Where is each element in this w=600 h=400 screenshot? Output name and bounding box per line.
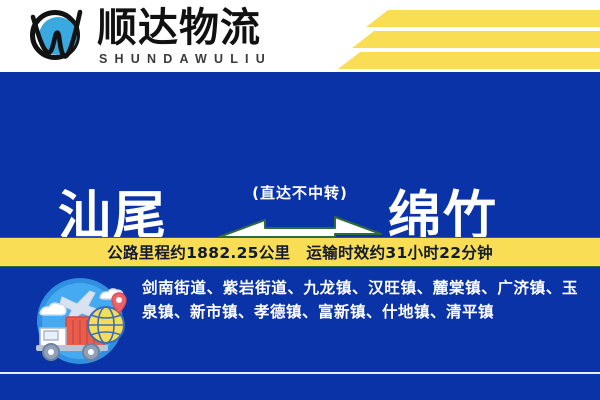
logistics-truck-plane-globe-icon (22, 273, 138, 369)
info-bar: 公路里程约1882.25公里 运输时效约31小时22分钟 (0, 237, 600, 267)
brand-name-en: SHUNDAWULIU (99, 51, 272, 67)
route-section: 汕尾 (直达不中转) 【往返运输】 绵竹 (0, 72, 600, 237)
header-bar: 顺达物流 SHUNDAWULIU (0, 0, 600, 72)
logo-w-stroke-icon (28, 8, 86, 66)
brand-text: 顺达物流 SHUNDAWULIU (97, 7, 272, 67)
brand-logo: 顺达物流 SHUNDAWULIU (26, 6, 272, 68)
footer-bar (0, 374, 600, 400)
service-areas-list: 剑南街道、紫岩街道、九龙镇、汉旺镇、麓棠镇、广济镇、玉泉镇、新市镇、孝德镇、富新… (142, 276, 578, 324)
distance-label: 公路里程约1882.25公里 (107, 241, 290, 263)
shunda-circle-w-logo-icon (26, 6, 88, 68)
brand-name-cn: 顺达物流 (97, 7, 272, 49)
duration-label: 运输时效约31小时22分钟 (306, 241, 493, 263)
service-areas-section: 剑南街道、紫岩街道、九龙镇、汉旺镇、麓棠镇、广济镇、玉泉镇、新市镇、孝德镇、富新… (0, 267, 600, 372)
diagonal-stripes-decoration-icon (300, 0, 600, 72)
logistics-route-poster: 顺达物流 SHUNDAWULIU 汕尾 (直达不中转) 【往返运输】 绵竹 公路… (0, 0, 600, 400)
route-note-top: (直达不中转) (215, 184, 385, 202)
